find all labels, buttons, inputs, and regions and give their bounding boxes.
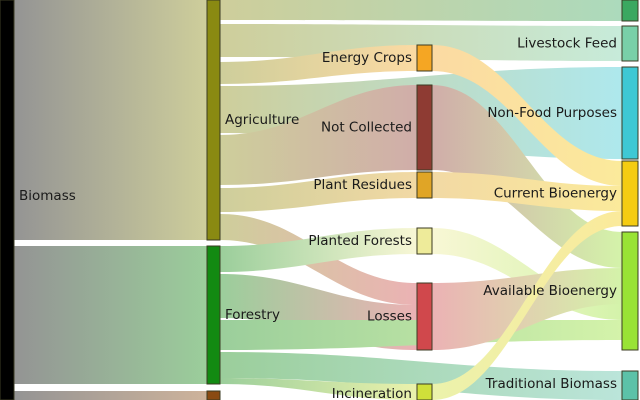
node-label-incineration: Incineration: [332, 386, 412, 400]
node-label-current_bioenergy: Current Bioenergy: [494, 186, 617, 202]
flow-biomass-to-forestry[interactable]: [14, 246, 207, 384]
node-livestock_feed[interactable]: [622, 26, 638, 61]
flow-biomass-to-agriculture[interactable]: [14, 0, 207, 240]
node-current_bioenergy[interactable]: [622, 161, 638, 226]
sankey-svg: BiomassAgricultureForestryEnergy CropsNo…: [0, 0, 640, 400]
node-label-plant_residues: Plant Residues: [313, 177, 412, 193]
node-available_bioenergy[interactable]: [622, 232, 638, 350]
node-energy_crops[interactable]: [417, 45, 432, 71]
node-food[interactable]: [622, 0, 638, 21]
node-label-energy_crops: Energy Crops: [322, 50, 412, 66]
flow-biomass-to-waste[interactable]: [14, 391, 207, 400]
node-losses[interactable]: [417, 283, 432, 350]
node-not_collected[interactable]: [417, 85, 432, 170]
node-incineration[interactable]: [417, 384, 432, 400]
node-label-not_collected: Not Collected: [321, 120, 412, 136]
node-label-forestry: Forestry: [225, 307, 280, 323]
node-label-losses: Losses: [367, 309, 412, 325]
node-waste[interactable]: [207, 391, 220, 400]
sankey-diagram-canvas: BiomassAgricultureForestryEnergy CropsNo…: [0, 0, 640, 400]
node-label-planted_forests: Planted Forests: [308, 233, 412, 249]
node-biomass[interactable]: [0, 0, 14, 400]
node-non_food_purposes[interactable]: [622, 67, 638, 159]
flow-agriculture-to-food[interactable]: [220, 0, 622, 21]
node-label-livestock_feed: Livestock Feed: [517, 36, 617, 52]
node-traditional_biomass[interactable]: [622, 371, 638, 400]
node-label-biomass: Biomass: [19, 188, 76, 204]
node-forestry[interactable]: [207, 246, 220, 384]
node-plant_residues[interactable]: [417, 172, 432, 198]
node-label-available_bioenergy: Available Bioenergy: [483, 283, 617, 299]
node-label-non_food_purposes: Non-Food Purposes: [487, 105, 617, 121]
node-label-traditional_biomass: Traditional Biomass: [485, 376, 617, 392]
node-agriculture[interactable]: [207, 0, 220, 240]
node-label-agriculture: Agriculture: [225, 112, 299, 128]
node-planted_forests[interactable]: [417, 228, 432, 254]
